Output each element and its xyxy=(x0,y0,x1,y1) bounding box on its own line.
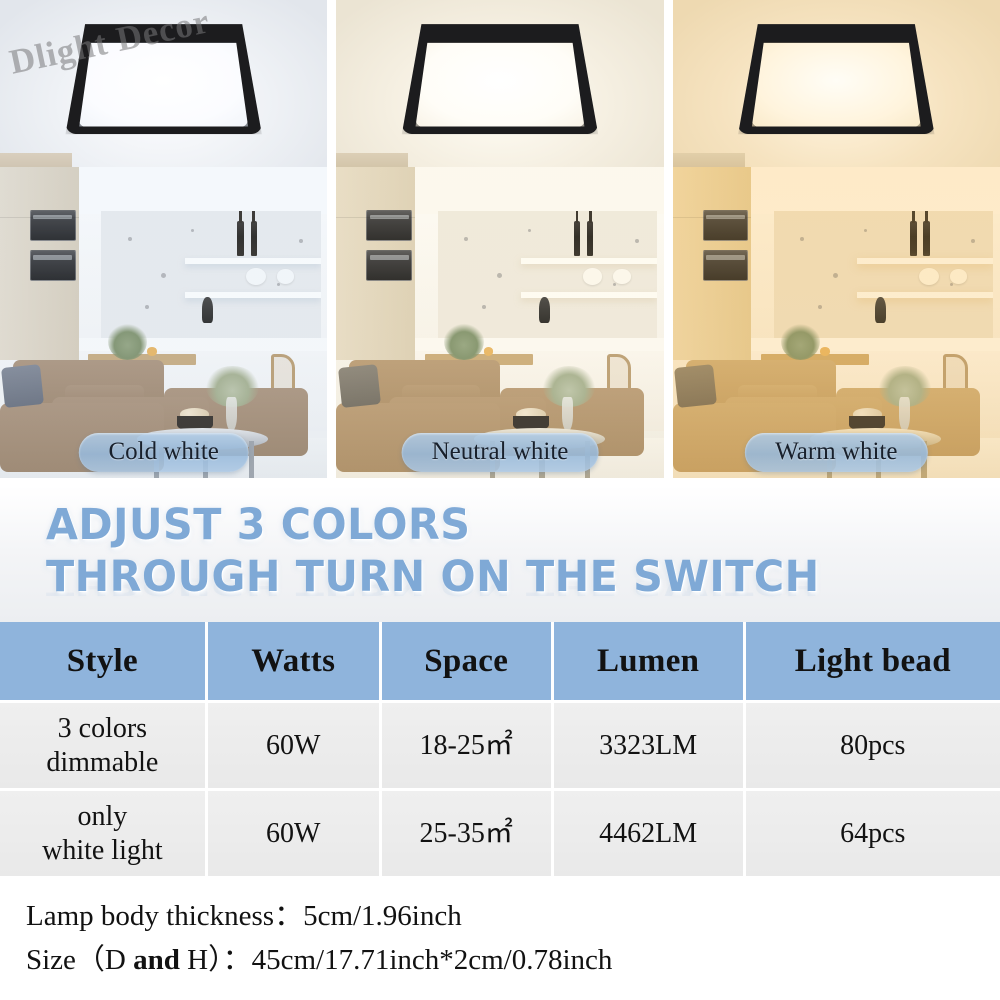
note-size-value: 45cm/17.71inch*2cm/0.78inch xyxy=(252,944,613,976)
tall-cabinet xyxy=(0,167,79,360)
wine-bottle xyxy=(574,221,581,256)
badge-neutral-white: Neutral white xyxy=(402,433,599,472)
table-header-row: Style Watts Space Lumen Light bead xyxy=(0,622,1000,700)
throw-pillow xyxy=(674,364,717,408)
fruit xyxy=(820,347,830,355)
footer-notes: Lamp body thickness：5cm/1.96inch Size（D … xyxy=(0,888,1000,1000)
lamp-diffuser xyxy=(416,43,585,127)
wine-bottle xyxy=(237,221,244,256)
ceiling-lamp-warm xyxy=(738,24,934,134)
figurine xyxy=(539,297,550,323)
potted-plant xyxy=(781,323,820,360)
bowl xyxy=(277,269,295,283)
throw-pillow xyxy=(338,364,381,408)
wine-bottle xyxy=(251,221,258,256)
headline-line2: THROUGH TURN ON THE SWITCH xyxy=(46,552,820,602)
table-header-space: Space xyxy=(382,622,551,700)
bowl xyxy=(583,268,603,285)
built-in-oven xyxy=(30,210,76,241)
cell-space: 25-35㎡ xyxy=(382,791,551,876)
wine-bottle xyxy=(587,221,594,256)
terrazzo-backsplash xyxy=(438,211,657,341)
potted-plant xyxy=(444,323,483,360)
built-in-oven xyxy=(366,210,412,241)
bowl xyxy=(613,269,631,283)
headline-banner: ADJUST 3 COLORS ADJUST 3 COLORS THROUGH … xyxy=(0,486,1000,622)
built-in-oven xyxy=(703,210,749,241)
terrazzo-backsplash xyxy=(101,211,320,341)
room-scene-warm xyxy=(673,167,1000,478)
built-in-oven xyxy=(703,250,749,281)
panel-neutral-white[interactable]: Neutral white xyxy=(336,0,663,478)
headline-line1: ADJUST 3 COLORS xyxy=(46,500,470,550)
note-thickness: Lamp body thickness：5cm/1.96inch xyxy=(26,894,1000,938)
coffee-table-leg xyxy=(249,441,254,478)
cell-style: 3 colorsdimmable xyxy=(0,703,205,788)
kitchen-soffit xyxy=(79,167,328,214)
ceiling-lamp-cold xyxy=(65,24,261,134)
built-in-oven xyxy=(30,250,76,281)
throw-pillow xyxy=(1,364,44,408)
ceiling-lamp-neutral xyxy=(402,24,598,134)
room-scene-cold xyxy=(0,167,327,478)
table-vase xyxy=(899,397,910,431)
cell-watts: 60W xyxy=(208,703,379,788)
table-header-light-bead: Light bead xyxy=(746,622,1000,700)
wine-bottle xyxy=(910,221,917,256)
note-size: Size（D and H）：45cm/17.71inch*2cm/0.78inc… xyxy=(26,938,1000,982)
figurine xyxy=(875,297,886,323)
cell-space: 18-25㎡ xyxy=(382,703,551,788)
cell-lumen: 3323LM xyxy=(554,703,743,788)
kitchen-soffit xyxy=(415,167,664,214)
color-temperature-panels: Cold white Dlight Decor xyxy=(0,0,1000,478)
fruit xyxy=(484,347,494,355)
wall-shelf xyxy=(185,258,321,265)
specification-table: Style Watts Space Lumen Light bead 3 col… xyxy=(0,622,1000,879)
panel-cold-white[interactable]: Cold white Dlight Decor xyxy=(0,0,327,478)
potted-plant xyxy=(108,323,147,360)
terrazzo-backsplash xyxy=(774,211,993,341)
note-size-suffix: H）： xyxy=(180,944,252,976)
badge-cold-white: Cold white xyxy=(78,433,248,472)
tall-cabinet xyxy=(336,167,415,360)
built-in-oven xyxy=(366,250,412,281)
lamp-diffuser xyxy=(79,43,248,127)
note-size-prefix: Size（D xyxy=(26,944,133,976)
table-row: 3 colorsdimmable 60W 18-25㎡ 3323LM 80pcs xyxy=(0,703,1000,788)
cell-light-bead: 64pcs xyxy=(746,791,1000,876)
note-size-and: and xyxy=(133,944,180,976)
wine-bottle xyxy=(923,221,930,256)
cell-style: onlywhite light xyxy=(0,791,205,876)
bowl xyxy=(246,268,266,285)
room-scene-neutral xyxy=(336,167,663,478)
table-header-watts: Watts xyxy=(208,622,379,700)
panel-warm-white[interactable]: Warm white xyxy=(673,0,1000,478)
ceiling-area-warm xyxy=(673,0,1000,172)
tall-cabinet xyxy=(673,167,752,360)
ceiling-area-neutral xyxy=(336,0,663,172)
cell-watts: 60W xyxy=(208,791,379,876)
badge-warm-white: Warm white xyxy=(745,433,927,472)
wall-shelf xyxy=(521,258,657,265)
figurine xyxy=(202,297,213,323)
fruit xyxy=(147,347,157,355)
lamp-diffuser xyxy=(752,43,921,127)
kitchen-soffit xyxy=(751,167,1000,214)
wall-shelf xyxy=(857,258,993,265)
bowl xyxy=(919,268,939,285)
bowl xyxy=(950,269,968,283)
table-header-style: Style xyxy=(0,622,205,700)
table-header-lumen: Lumen xyxy=(554,622,743,700)
table-vase xyxy=(226,397,237,431)
table-row: onlywhite light 60W 25-35㎡ 4462LM 64pcs xyxy=(0,791,1000,876)
cell-light-bead: 80pcs xyxy=(746,703,1000,788)
ceiling-area-cold xyxy=(0,0,327,172)
cell-lumen: 4462LM xyxy=(554,791,743,876)
